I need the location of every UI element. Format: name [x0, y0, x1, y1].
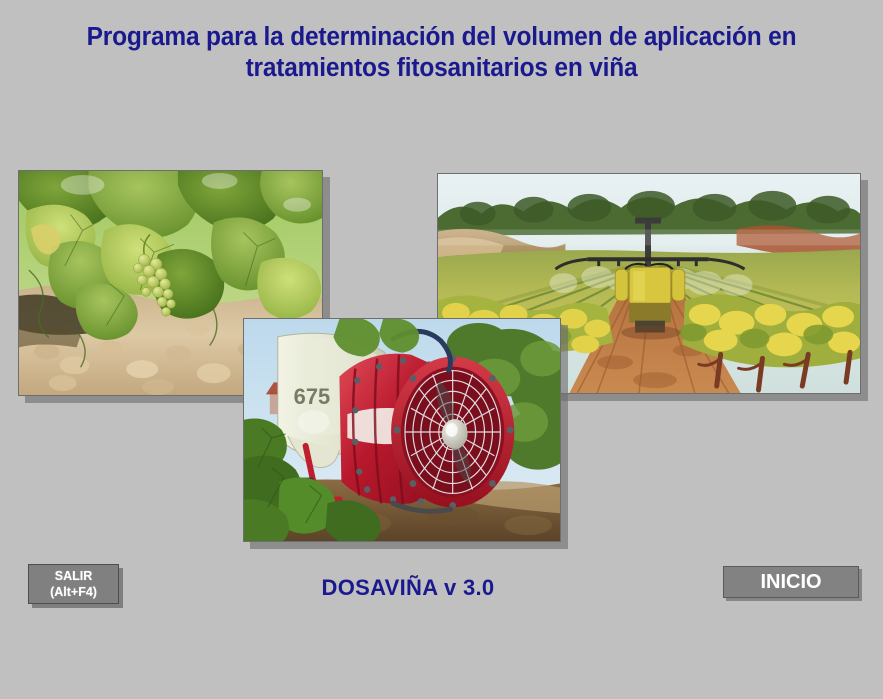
page-title: Programa para la determinación del volum…	[18, 22, 866, 84]
axial-fan-sprayer-photo: 675	[243, 318, 561, 542]
fan-sprayer-illustration: 675	[244, 319, 560, 541]
start-button[interactable]: INICIO	[723, 566, 859, 598]
version-label: DOSAVIÑA v 3.0	[238, 575, 578, 601]
exit-button-label-shortcut: (Alt+F4)	[50, 584, 97, 600]
svg-text:675: 675	[294, 384, 330, 409]
exit-button[interactable]: SALIR (Alt+F4)	[28, 564, 119, 604]
exit-button-label-primary: SALIR	[55, 568, 93, 584]
dosavina-splash-screen: Programa para la determinación del volum…	[0, 0, 883, 699]
start-button-label: INICIO	[760, 571, 821, 594]
